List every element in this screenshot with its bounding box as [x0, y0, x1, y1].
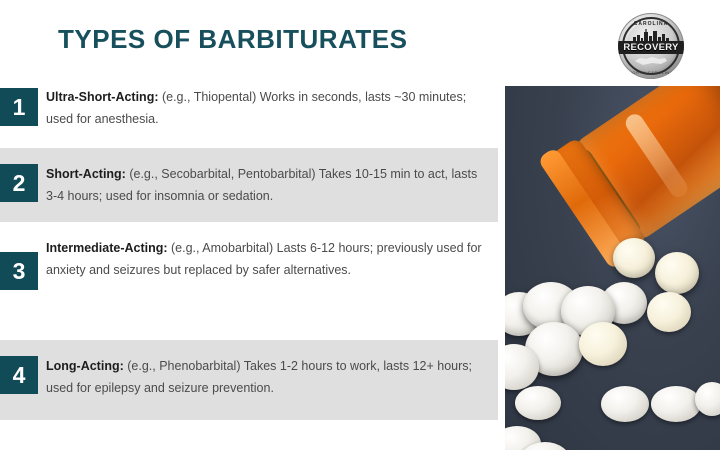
item-term: Intermediate-Acting:	[46, 241, 168, 255]
item-term: Short-Acting:	[46, 167, 126, 181]
page-title: TYPES OF BARBITURATES	[58, 24, 407, 55]
state-outline-icon	[634, 55, 668, 67]
list-item: 4 Long-Acting: (e.g., Phenobarbital) Tak…	[0, 340, 498, 420]
infographic-canvas: TYPES OF BARBITURATES CAROLINA RECOVERY …	[0, 0, 720, 450]
item-number-badge: 2	[0, 164, 38, 202]
carolina-recovery-logo[interactable]: CAROLINA RECOVERY NORTH CAROLINA	[618, 13, 684, 79]
list-item: 3 Intermediate-Acting: (e.g., Amobarbita…	[0, 226, 498, 316]
logo-bottom-text: NORTH CAROLINA	[618, 70, 684, 75]
item-term: Ultra-Short-Acting:	[46, 90, 159, 104]
item-text: Intermediate-Acting: (e.g., Amobarbital)…	[38, 226, 498, 281]
list-item: 2 Short-Acting: (e.g., Secobarbital, Pen…	[0, 148, 498, 222]
item-number-badge: 4	[0, 356, 38, 394]
logo-top-text: CAROLINA	[618, 21, 684, 27]
tablet	[515, 386, 561, 420]
bottom-margin	[0, 420, 505, 450]
list-item: 1 Ultra-Short-Acting: (e.g., Thiopental)…	[0, 82, 498, 144]
tablet	[579, 322, 627, 366]
item-text: Long-Acting: (e.g., Phenobarbital) Takes…	[38, 340, 498, 399]
item-number-badge: 3	[0, 252, 38, 290]
item-text: Short-Acting: (e.g., Secobarbital, Pento…	[38, 148, 498, 207]
item-number-badge: 1	[0, 88, 38, 126]
tablet	[655, 252, 699, 294]
item-term: Long-Acting:	[46, 359, 124, 373]
pill-bottle-photo	[505, 86, 720, 450]
tablet	[647, 292, 691, 332]
tablet	[651, 386, 701, 422]
logo-wordmark: RECOVERY	[618, 41, 684, 54]
tablet	[601, 386, 649, 422]
tablet	[613, 238, 655, 278]
item-text: Ultra-Short-Acting: (e.g., Thiopental) W…	[38, 82, 498, 130]
